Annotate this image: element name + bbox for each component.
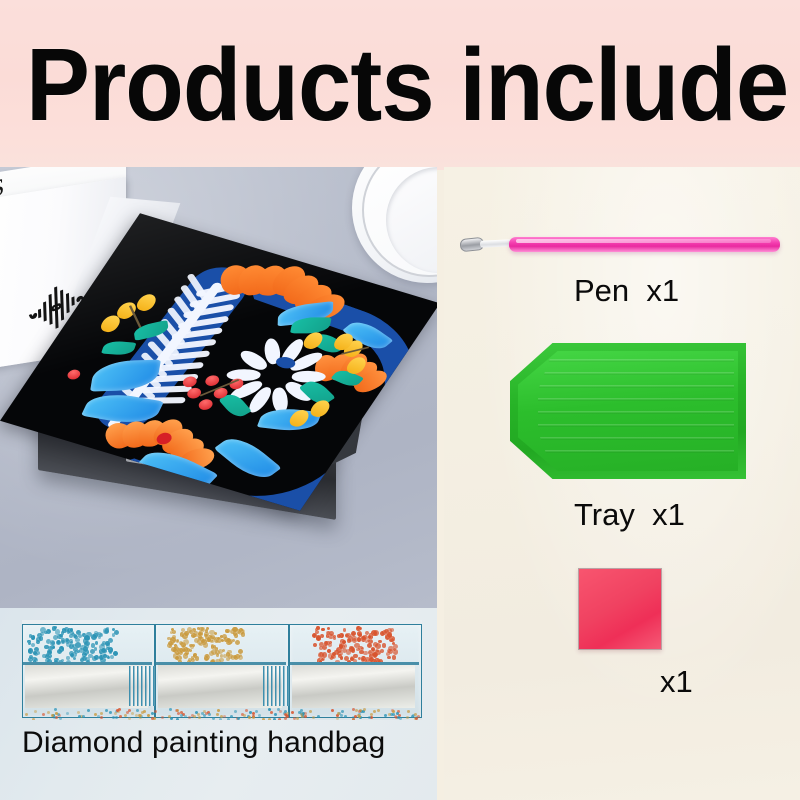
loose-drill: [248, 716, 251, 719]
loose-drill: [309, 710, 312, 713]
drill: [56, 640, 61, 645]
drill: [380, 649, 384, 653]
loose-drill: [373, 710, 376, 713]
loose-drill: [388, 713, 391, 716]
loose-drill: [136, 709, 139, 712]
drill: [361, 636, 366, 641]
loose-drill: [128, 717, 131, 720]
loose-drill: [278, 718, 281, 720]
plate-inner-well: [386, 167, 437, 273]
loose-drill: [227, 718, 230, 721]
loose-drill: [197, 713, 200, 716]
wax-label: x1: [660, 664, 693, 700]
drill: [53, 635, 58, 640]
loose-drill: [341, 710, 344, 713]
loose-drill: [193, 715, 196, 718]
drill: [187, 627, 193, 633]
loose-drill: [223, 715, 226, 718]
drill: [74, 650, 78, 654]
handbag-photo-panel: Diamond painting handbag: [0, 608, 437, 800]
loose-drill: [87, 709, 90, 712]
loose-drill: [217, 709, 220, 712]
loose-drill: [234, 710, 237, 713]
loose-drill: [414, 713, 417, 716]
drill: [57, 649, 62, 654]
drill: [368, 635, 372, 639]
drill: [181, 628, 185, 632]
drill: [113, 651, 118, 656]
loose-drill: [34, 710, 37, 713]
wax-square-icon: [578, 568, 662, 650]
drill: [91, 634, 97, 640]
loose-drill: [368, 716, 371, 719]
drill: [168, 641, 173, 646]
panel-sheen: [444, 167, 800, 800]
drill: [221, 639, 225, 643]
drill-field: [159, 626, 281, 662]
drill: [52, 626, 57, 631]
drill: [114, 630, 119, 635]
drill: [75, 642, 81, 648]
drill: [363, 651, 368, 656]
header-banner: Products include: [0, 0, 800, 170]
drill: [387, 656, 391, 660]
infographic-canvas: Products include RS S ⸎: [0, 0, 800, 800]
loose-drill: [53, 716, 56, 719]
pen-label: Pen x1: [574, 273, 679, 309]
zip-teeth: [129, 666, 155, 706]
zip-line: [290, 662, 419, 665]
drill: [238, 649, 244, 655]
drill: [241, 632, 246, 637]
drill: [98, 636, 101, 639]
loose-drill: [268, 718, 271, 720]
drill: [392, 655, 397, 660]
loose-drill: [176, 718, 179, 720]
drill: [201, 639, 206, 644]
pen-highlight: [516, 239, 771, 243]
loose-drill: [169, 708, 172, 711]
drill: [171, 647, 177, 653]
jewelry-box: [30, 227, 390, 547]
drill: [343, 628, 346, 631]
drill: [73, 657, 76, 660]
loose-drill: [161, 716, 164, 719]
drill: [70, 653, 74, 657]
loose-drill: [406, 716, 409, 719]
drill: [326, 631, 330, 635]
drill: [321, 628, 325, 632]
drill: [69, 634, 73, 638]
handbag-photo: [22, 620, 422, 720]
drill: [340, 656, 344, 660]
loose-drill: [32, 718, 35, 720]
drill: [313, 643, 317, 647]
loose-drill: [82, 715, 85, 718]
pouch-foil: [292, 664, 415, 708]
drill: [322, 652, 327, 657]
drill: [226, 657, 230, 661]
drill: [103, 628, 108, 633]
drill: [222, 649, 226, 653]
drill: [95, 641, 99, 645]
loose-drill: [55, 712, 58, 715]
drill-field: [293, 626, 414, 662]
tray-grooves: [538, 359, 734, 463]
loose-drill: [42, 713, 45, 716]
loose-drill: [66, 712, 69, 715]
drill: [29, 634, 33, 638]
drill: [347, 638, 352, 643]
drill: [342, 640, 346, 644]
drill: [373, 630, 379, 636]
loose-drill: [175, 709, 178, 712]
drill: [327, 627, 330, 630]
drill: [103, 654, 107, 658]
drill: [226, 652, 231, 657]
loose-drill: [105, 709, 108, 712]
loose-drill: [170, 717, 173, 720]
drill: [353, 654, 357, 658]
drill: [39, 636, 44, 641]
loose-drill: [312, 716, 315, 719]
loose-drill: [100, 716, 103, 719]
drill: [333, 637, 336, 640]
drill: [73, 634, 77, 638]
drill: [238, 655, 243, 660]
drill: [66, 656, 69, 659]
loose-drill: [284, 713, 287, 716]
drill: [322, 645, 327, 650]
drill: [375, 643, 381, 649]
tray-icon: [510, 343, 746, 479]
drill: [328, 643, 332, 647]
pen-icon: [460, 227, 780, 261]
loose-drill: [273, 718, 276, 720]
loose-drill: [296, 717, 299, 720]
loose-drill: [370, 716, 373, 719]
loose-drill: [115, 716, 118, 719]
loose-drill: [184, 715, 187, 718]
loose-drill: [219, 718, 222, 720]
loose-drill: [291, 711, 294, 714]
drill: [358, 633, 362, 637]
loose-drill: [51, 714, 54, 717]
drill: [378, 640, 381, 643]
loose-drill: [198, 716, 201, 719]
loose-drill: [147, 714, 150, 717]
pen-ferrule: [480, 239, 512, 248]
loose-drill: [100, 712, 103, 715]
drill: [61, 631, 65, 635]
drill: [78, 634, 82, 638]
zip-teeth: [263, 666, 289, 706]
drill: [367, 643, 372, 648]
zip-line: [156, 662, 286, 665]
drill: [193, 631, 198, 636]
drill: [205, 654, 209, 658]
loose-drill: [274, 713, 277, 716]
drill: [382, 643, 387, 648]
loose-drill: [262, 718, 265, 720]
drill: [359, 627, 363, 631]
drill: [204, 632, 208, 636]
loose-drill: [245, 709, 248, 712]
loose-drill: [59, 717, 62, 720]
loose-drill: [397, 716, 400, 719]
drill: [316, 626, 320, 630]
loose-drill: [258, 714, 261, 717]
loose-drill: [252, 716, 255, 719]
loose-drill: [352, 718, 355, 720]
drill: [33, 651, 37, 655]
loose-drill: [212, 717, 215, 720]
loose-drill: [358, 710, 361, 713]
drill: [235, 640, 240, 645]
drill: [105, 641, 110, 646]
loose-drill: [116, 709, 119, 712]
drill-field: [26, 626, 147, 662]
drill: [316, 635, 322, 641]
drill: [85, 657, 90, 662]
drill: [175, 656, 179, 660]
drill: [332, 652, 336, 656]
drill: [90, 649, 96, 655]
drill: [83, 646, 89, 652]
drill: [339, 644, 344, 649]
accessories-panel: Pen x1 Tray x1 x1: [444, 167, 800, 800]
loose-drill: [230, 715, 233, 718]
loose-drill: [284, 717, 287, 720]
drill: [52, 646, 55, 649]
loose-drill: [168, 715, 171, 718]
zip-line: [23, 662, 152, 665]
loose-drill: [384, 714, 387, 717]
loose-drill: [201, 712, 204, 715]
loose-drill: [119, 715, 122, 718]
drill: [211, 649, 217, 655]
drill: [44, 645, 49, 650]
page-title: Products include: [26, 33, 788, 137]
loose-drill: [205, 712, 208, 715]
loose-drill: [94, 713, 97, 716]
handbag-caption: Diamond painting handbag: [22, 726, 385, 760]
loose-drill: [249, 711, 252, 714]
product-photo-main: RS S ⸎: [0, 167, 437, 608]
tray-label: Tray x1: [574, 497, 685, 533]
loose-drill: [124, 714, 127, 717]
drill: [51, 641, 55, 645]
drill: [92, 656, 97, 661]
loose-drill: [216, 713, 219, 716]
loose-drill: [237, 717, 240, 720]
drill: [91, 643, 95, 647]
loose-drill: [154, 710, 157, 713]
drill: [46, 653, 49, 656]
drill: [29, 655, 33, 659]
drill: [195, 656, 199, 660]
drill: [182, 648, 186, 652]
loose-drill: [143, 710, 146, 713]
